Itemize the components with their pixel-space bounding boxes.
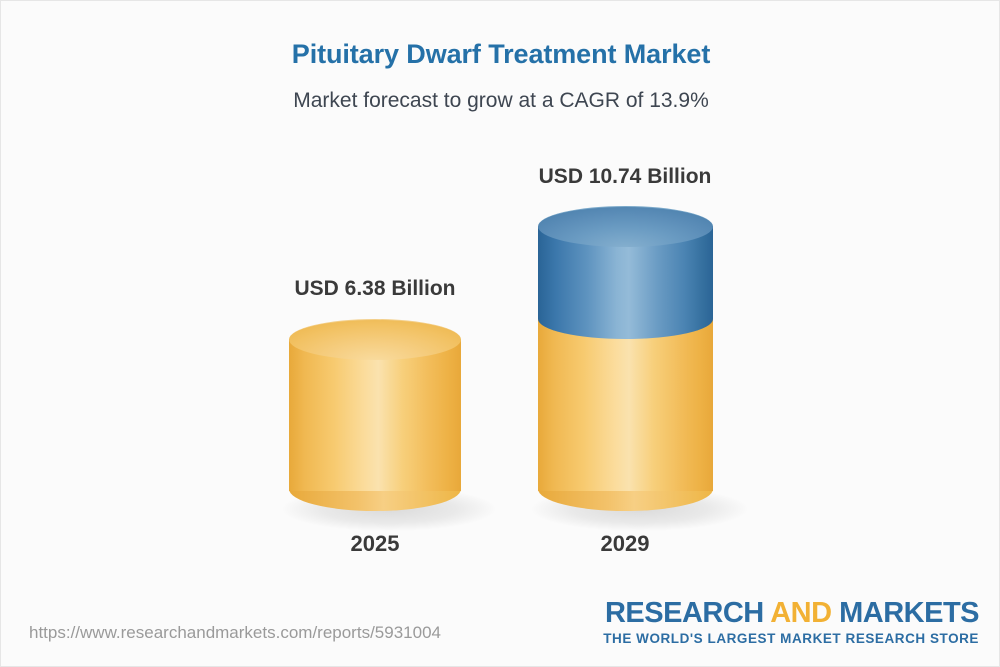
logo-wordmark: RESEARCH AND MARKETS (603, 599, 979, 628)
chart-canvas: Pituitary Dwarf Treatment Market Market … (0, 0, 1000, 667)
bar-top-ellipse-2029 (538, 206, 713, 247)
category-label-2029: 2029 (465, 531, 785, 557)
logo-word-and: AND (770, 597, 839, 629)
bar-value-label-2029: USD 10.74 Billion (465, 165, 785, 189)
bar-top-ellipse-2025 (289, 319, 461, 360)
bar-base-body-2025 (289, 339, 461, 491)
plot-area: USD 6.38 Billion 2025 USD 10.74 Billion … (1, 1, 1000, 601)
source-url[interactable]: https://www.researchandmarkets.com/repor… (29, 623, 441, 643)
logo-tagline: THE WORLD'S LARGEST MARKET RESEARCH STOR… (603, 631, 979, 646)
research-and-markets-logo[interactable]: RESEARCH AND MARKETS THE WORLD'S LARGEST… (603, 599, 979, 646)
logo-word-research: RESEARCH (605, 597, 770, 629)
bar-value-label-2025: USD 6.38 Billion (215, 277, 535, 301)
bar-cylinder-2025[interactable] (289, 319, 461, 511)
logo-word-markets: MARKETS (839, 597, 979, 629)
bar-cylinder-2029[interactable] (538, 206, 713, 511)
bar-base-body-2029 (538, 319, 713, 491)
